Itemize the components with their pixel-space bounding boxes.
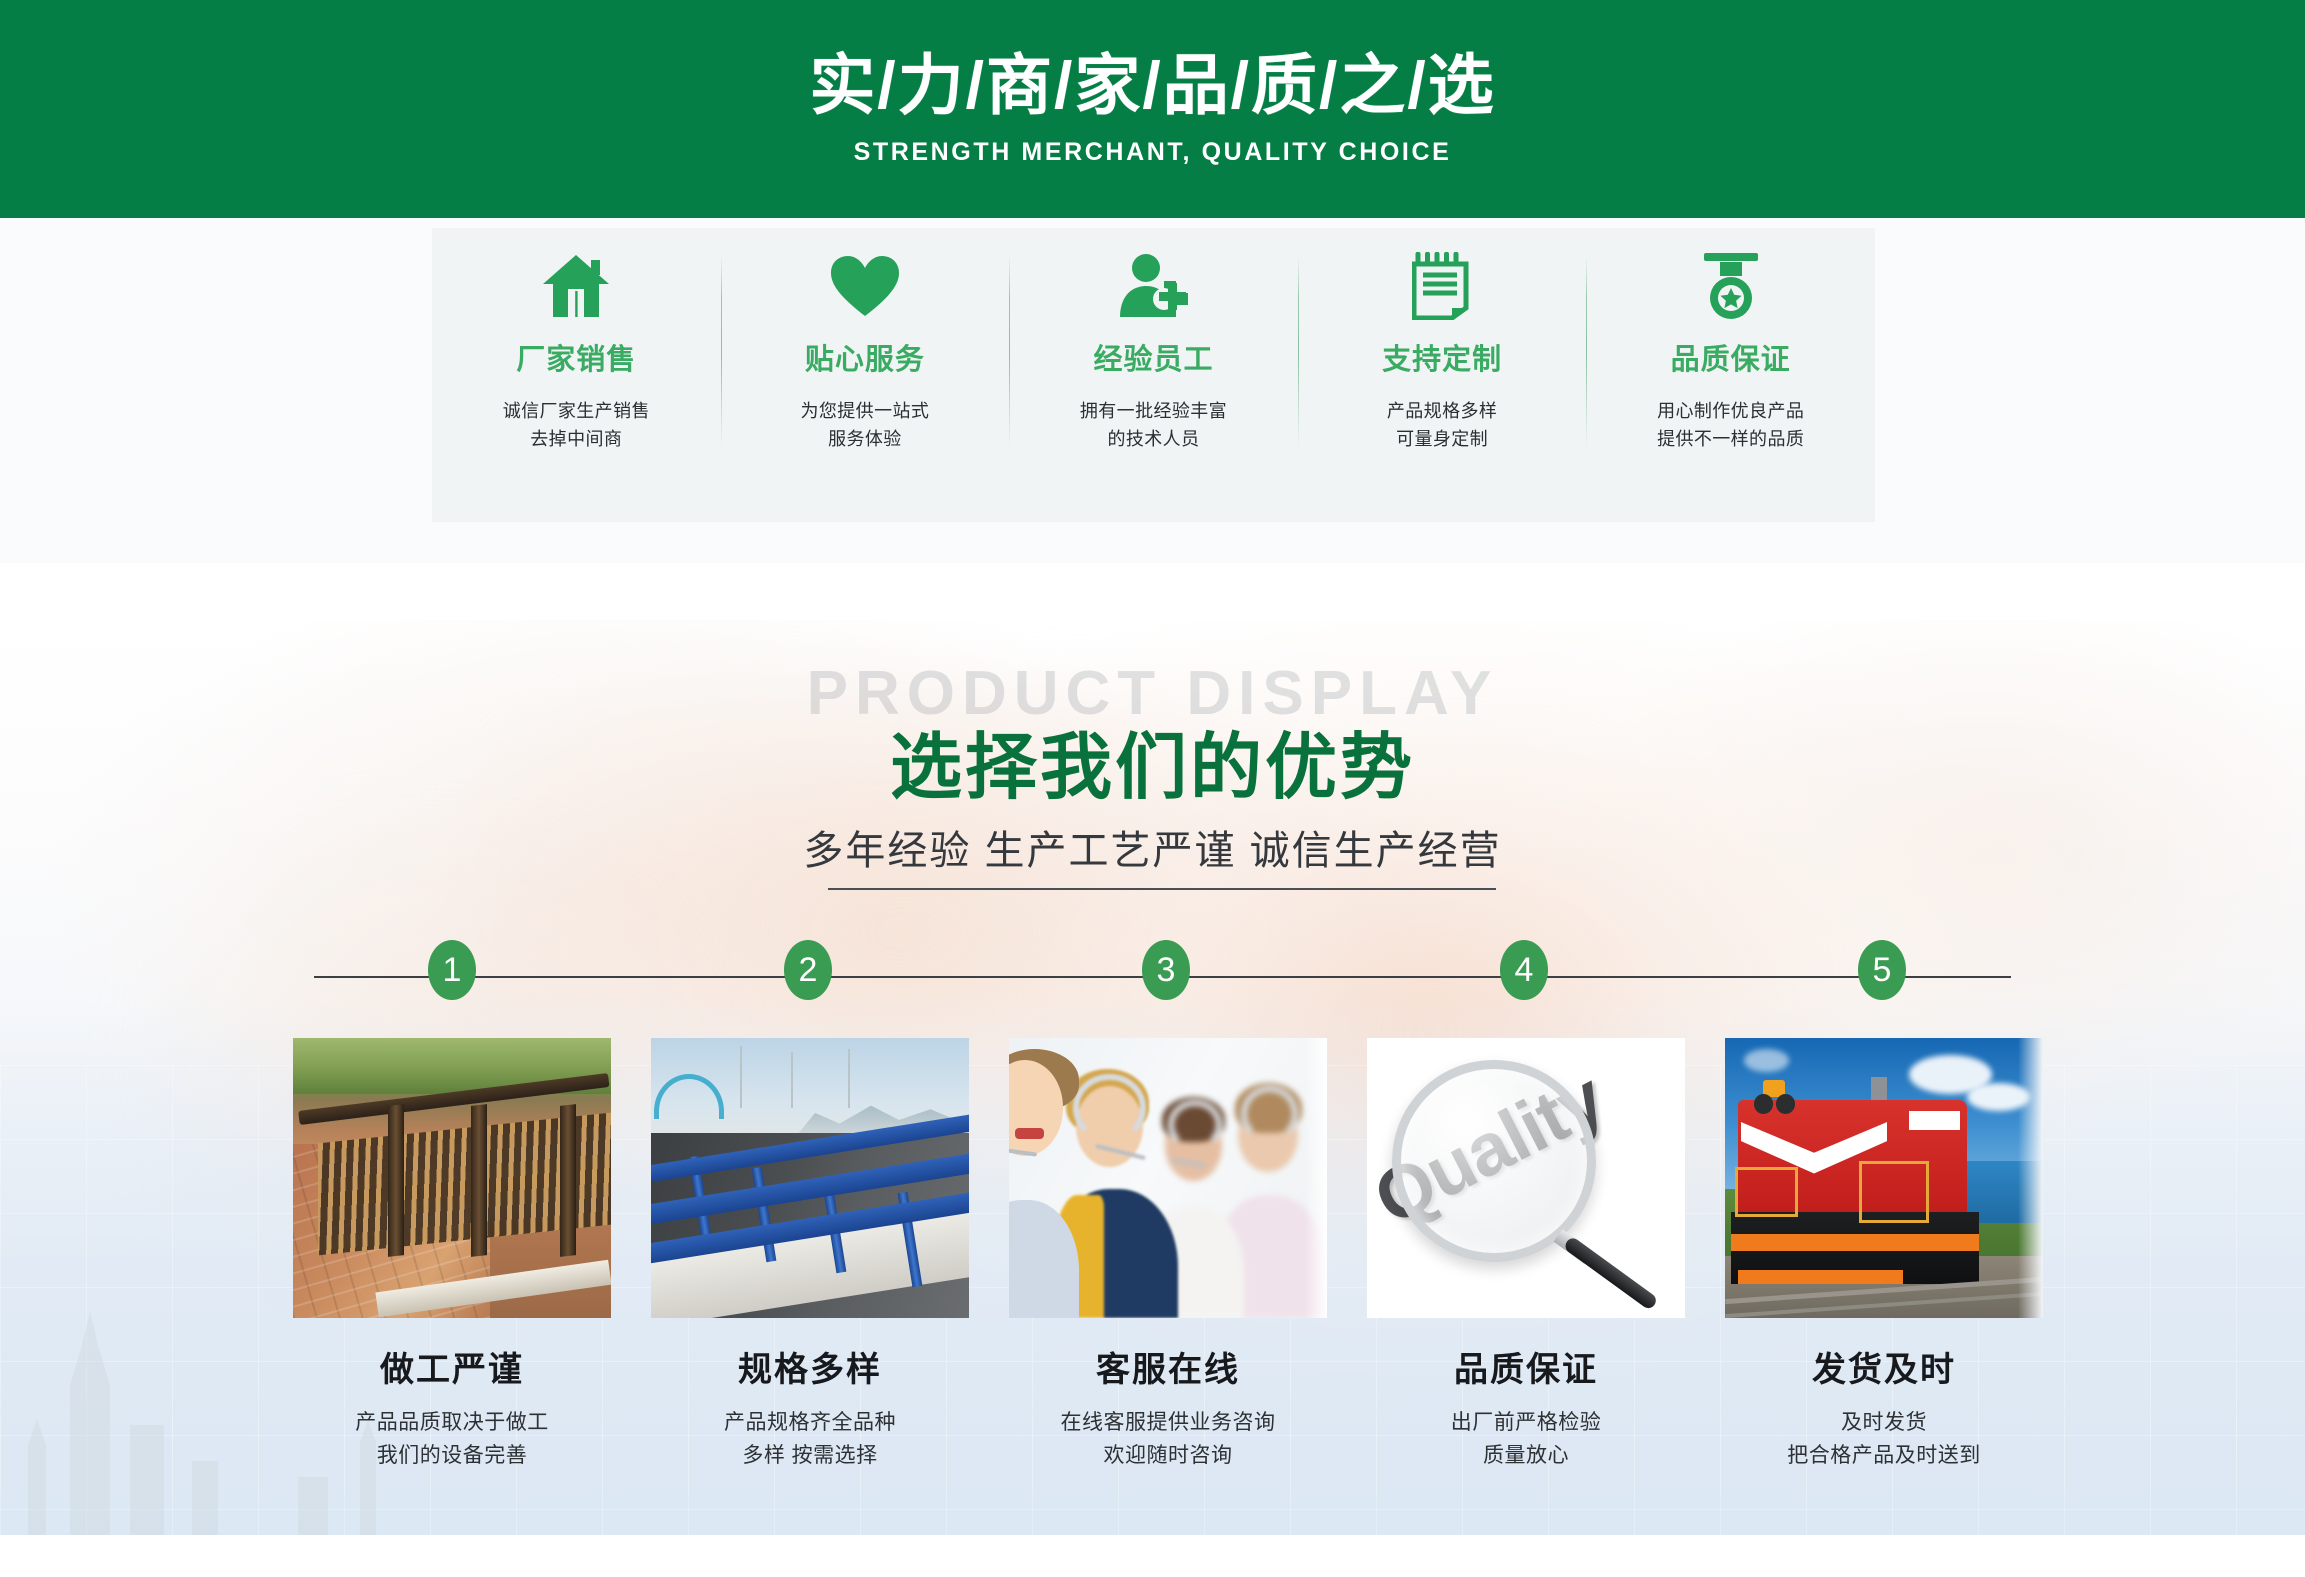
blue-highway-guardrail-photo bbox=[651, 1038, 969, 1318]
step-card-1[interactable]: 做工严谨 产品品质取决于做工 我们的设备完善 bbox=[293, 1038, 611, 1472]
feature-item-attentive-service[interactable]: 贴心服务 为您提供一站式 服务体验 bbox=[721, 228, 1010, 454]
notepad-icon bbox=[1412, 252, 1472, 320]
feature-title: 厂家销售 bbox=[516, 336, 636, 378]
features-panel: 厂家销售 诚信厂家生产销售 去掉中间商 贴心服务 为您提供一站式 服务体验 bbox=[432, 228, 1875, 522]
step-desc-line2: 把合格产品及时送到 bbox=[1725, 1440, 2043, 1473]
feature-item-quality-guarantee[interactable]: 品质保证 用心制作优良产品 提供不一样的品质 bbox=[1586, 228, 1875, 454]
step-desc-line1: 产品规格齐全品种 bbox=[651, 1407, 969, 1440]
feature-item-factory-sales[interactable]: 厂家销售 诚信厂家生产销售 去掉中间商 bbox=[432, 228, 721, 454]
feature-desc-line2: 去掉中间商 bbox=[503, 426, 650, 454]
home-icon bbox=[541, 252, 611, 320]
heart-icon bbox=[829, 252, 901, 320]
step-title-3: 客服在线 bbox=[1009, 1342, 1327, 1391]
feature-desc: 诚信厂家生产销售 去掉中间商 bbox=[503, 398, 650, 454]
step-desc-line2: 欢迎随时咨询 bbox=[1009, 1440, 1327, 1473]
step-thumbnail-3[interactable] bbox=[1009, 1038, 1327, 1318]
step-title-5: 发货及时 bbox=[1725, 1342, 2043, 1391]
step-marker-5[interactable]: 5 bbox=[1858, 940, 1906, 1000]
feature-title: 经验员工 bbox=[1093, 336, 1213, 378]
step-desc-5: 及时发货 把合格产品及时送到 bbox=[1725, 1407, 2043, 1472]
feature-desc-line2: 提供不一样的品质 bbox=[1657, 426, 1804, 454]
step-title-1: 做工严谨 bbox=[293, 1342, 611, 1391]
step-card-2[interactable]: 规格多样 产品规格齐全品种 多样 按需选择 bbox=[651, 1038, 969, 1472]
quality-magnifier-photo: Quality bbox=[1367, 1038, 1685, 1318]
page-title: 实/力/商/家/品/质/之/选 bbox=[809, 51, 1495, 120]
call-center-agents-photo bbox=[1009, 1038, 1327, 1318]
step-thumbnail-1[interactable] bbox=[293, 1038, 611, 1318]
step-marker-1[interactable]: 1 bbox=[428, 940, 476, 1000]
features-section: 厂家销售 诚信厂家生产销售 去掉中间商 贴心服务 为您提供一站式 服务体验 bbox=[0, 218, 2305, 563]
step-title-4: 品质保证 bbox=[1367, 1342, 1685, 1391]
feature-desc-line1: 为您提供一站式 bbox=[800, 398, 929, 426]
advantages-section: PRODUCT DISPLAY 选择我们的优势 多年经验 生产工艺严谨 诚信生产… bbox=[0, 620, 2305, 1535]
step-card-4[interactable]: Quality 品质保证 出厂前严格检验 质量放心 bbox=[1367, 1038, 1685, 1472]
step-desc-line2: 质量放心 bbox=[1367, 1440, 1685, 1473]
step-desc-3: 在线客服提供业务咨询 欢迎随时咨询 bbox=[1009, 1407, 1327, 1472]
feature-desc-line1: 诚信厂家生产销售 bbox=[503, 398, 650, 426]
feature-item-custom-support[interactable]: 支持定制 产品规格多样 可量身定制 bbox=[1298, 228, 1587, 454]
step-desc-1: 产品品质取决于做工 我们的设备完善 bbox=[293, 1407, 611, 1472]
step-desc-line1: 产品品质取决于做工 bbox=[293, 1407, 611, 1440]
feature-desc: 为您提供一站式 服务体验 bbox=[800, 398, 929, 454]
feature-title: 贴心服务 bbox=[805, 336, 925, 378]
page-root: 实/力/商/家/品/质/之/选 STRENGTH MERCHANT, QUALI… bbox=[0, 0, 2305, 1577]
feature-desc-line1: 产品规格多样 bbox=[1387, 398, 1497, 426]
header-band: 实/力/商/家/品/质/之/选 STRENGTH MERCHANT, QUALI… bbox=[0, 0, 2305, 218]
feature-title: 支持定制 bbox=[1382, 336, 1502, 378]
step-thumbnail-4[interactable]: Quality bbox=[1367, 1038, 1685, 1318]
feature-desc-line1: 用心制作优良产品 bbox=[1657, 398, 1804, 426]
step-marker-2[interactable]: 2 bbox=[784, 940, 832, 1000]
step-desc-line1: 在线客服提供业务咨询 bbox=[1009, 1407, 1327, 1440]
medal-icon bbox=[1698, 252, 1764, 320]
feature-title: 品质保证 bbox=[1671, 336, 1791, 378]
step-desc-4: 出厂前严格检验 质量放心 bbox=[1367, 1407, 1685, 1472]
feature-desc: 产品规格多样 可量身定制 bbox=[1387, 398, 1497, 454]
step-thumbnail-2[interactable] bbox=[651, 1038, 969, 1318]
step-title-2: 规格多样 bbox=[651, 1342, 969, 1391]
step-desc-line1: 及时发货 bbox=[1725, 1407, 2043, 1440]
feature-item-experienced-staff[interactable]: 经验员工 拥有一批经验丰富 的技术人员 bbox=[1009, 228, 1298, 454]
feature-desc-line2: 服务体验 bbox=[800, 426, 929, 454]
step-marker-3[interactable]: 3 bbox=[1142, 940, 1190, 1000]
step-desc-2: 产品规格齐全品种 多样 按需选择 bbox=[651, 1407, 969, 1472]
feature-desc-line2: 可量身定制 bbox=[1387, 426, 1497, 454]
step-thumbnail-5[interactable] bbox=[1725, 1038, 2043, 1318]
user-plus-icon bbox=[1116, 252, 1190, 320]
magnifier-handle bbox=[1563, 1235, 1659, 1311]
bronze-bridge-railing-photo bbox=[293, 1038, 611, 1318]
feature-desc-line1: 拥有一批经验丰富 bbox=[1080, 398, 1227, 426]
step-desc-line1: 出厂前严格检验 bbox=[1367, 1407, 1685, 1440]
feature-desc: 用心制作优良产品 提供不一样的品质 bbox=[1657, 398, 1804, 454]
red-freight-locomotive-photo bbox=[1725, 1038, 2043, 1318]
page-subtitle: STRENGTH MERCHANT, QUALITY CHOICE bbox=[854, 138, 1452, 167]
step-card-5[interactable]: 发货及时 及时发货 把合格产品及时送到 bbox=[1725, 1038, 2043, 1472]
step-desc-line2: 多样 按需选择 bbox=[651, 1440, 969, 1473]
feature-desc-line2: 的技术人员 bbox=[1080, 426, 1227, 454]
feature-desc: 拥有一批经验丰富 的技术人员 bbox=[1080, 398, 1227, 454]
step-card-3[interactable]: 客服在线 在线客服提供业务咨询 欢迎随时咨询 bbox=[1009, 1038, 1327, 1472]
step-marker-4[interactable]: 4 bbox=[1500, 940, 1548, 1000]
step-desc-line2: 我们的设备完善 bbox=[293, 1440, 611, 1473]
